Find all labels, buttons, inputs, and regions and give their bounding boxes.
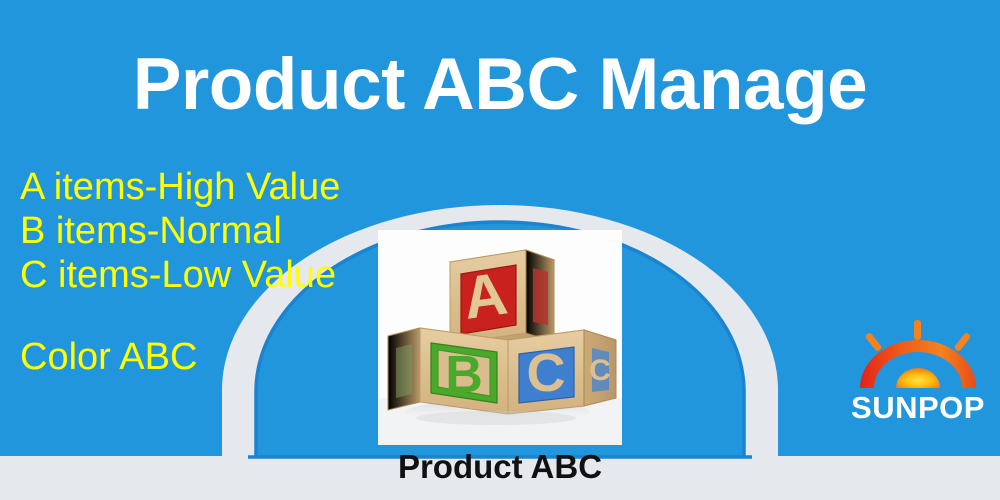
page-title: Product ABC Manage — [0, 48, 1000, 121]
image-caption: Product ABC — [330, 448, 670, 486]
block-letter-b: B — [445, 346, 483, 404]
block-letter-a: A — [459, 260, 511, 332]
block-letter-c: C — [527, 343, 566, 403]
sun-dome-icon — [896, 368, 940, 388]
block-c: C C — [508, 330, 616, 414]
sunpop-wordmark: SUNPOP — [851, 390, 985, 425]
bullet-item-a: A items-High Value — [20, 165, 450, 209]
abc-blocks-illustration: A B — [378, 230, 622, 445]
sunpop-logo: SUNPOP — [848, 318, 988, 426]
abc-blocks-image: A B — [378, 230, 622, 445]
color-abc-label: Color ABC — [20, 335, 197, 379]
block-letter-c-side: C — [589, 354, 611, 387]
sunpop-logo-svg: SUNPOP — [848, 318, 988, 426]
block-b: B — [388, 328, 508, 414]
product-abc-banner: Product ABC Manage A items-High Value B … — [0, 0, 1000, 500]
